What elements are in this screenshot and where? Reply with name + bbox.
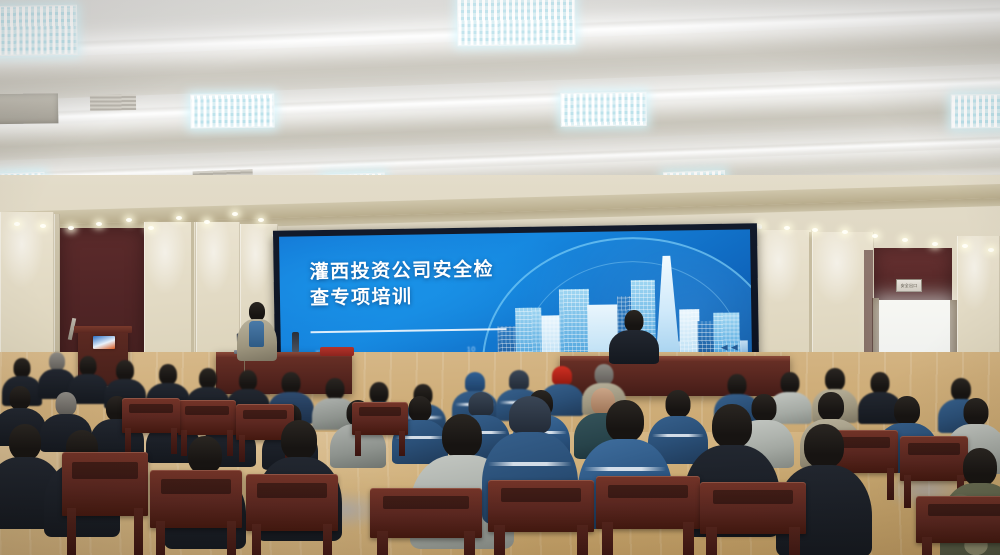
chair-leg [887,468,894,500]
uniform-stripe [584,467,667,471]
downlight-icon [176,216,182,220]
head [188,436,222,474]
head [964,398,989,426]
head [282,372,301,394]
seated-official [608,310,660,362]
standing-presenter [236,302,278,360]
chair-leg [125,428,131,454]
chair-leg [683,522,693,555]
chair-slot [713,490,794,504]
slide-divider [311,328,507,333]
prev-arrow-icon[interactable] [721,345,738,351]
audience-chair[interactable] [62,452,148,555]
chair-back [916,496,1000,543]
downlight-icon [258,218,264,222]
head [14,358,31,378]
air-vent-icon [0,93,58,124]
downlight-icon [96,222,102,226]
table-red-cloth [320,347,354,356]
presenter-shirt [249,321,264,347]
audience-chair[interactable] [150,470,242,555]
downlight-icon [812,228,818,232]
ceiling-light-panel-icon [0,5,78,57]
downlight-icon [204,220,210,224]
chair-leg [134,508,143,555]
accent-light-icon [758,226,762,229]
lectern-emblem [93,336,115,349]
chair-slot [257,483,327,498]
ceiling-light-panel-icon [457,0,576,46]
chair-leg [602,522,612,555]
chair-leg [922,537,932,555]
head [199,368,217,389]
head [509,370,529,390]
ceiling-light-panel-icon [560,92,646,127]
head [56,392,77,416]
downlight-icon [14,222,20,226]
chair-back [370,488,482,538]
downlight-icon [232,212,238,216]
head [442,414,482,458]
audience-chair[interactable] [370,488,482,555]
downlight-icon [932,242,938,246]
downlight-icon [872,234,878,238]
chair-leg [789,527,800,555]
head [9,424,41,460]
chair-leg [904,475,911,508]
chair-slot [129,404,173,413]
chair-back [488,480,594,532]
slide-title: 灌西投资公司安全检 查专项培训 [309,256,555,311]
head [509,396,551,434]
chair-back [62,452,148,516]
ceiling-light-panel-icon [190,93,274,128]
slide-content: 灌西投资公司安全检 查专项培训 汇报人：李 10 [279,229,752,363]
ceiling-light-panel-icon [951,94,1000,129]
audience-chair[interactable] [352,402,408,456]
head [116,360,134,381]
building [559,289,590,359]
chair-back [596,476,700,529]
air-vent-icon [90,94,136,111]
head [963,448,997,486]
head [871,372,890,394]
audience-chair[interactable] [596,476,700,555]
chair-leg [377,531,388,555]
downlight-icon [40,224,46,228]
downlight-icon [962,244,968,248]
downlight-icon [126,218,132,222]
head [281,420,317,460]
downlight-icon [842,230,848,234]
head [894,396,920,425]
chair-leg [323,524,332,555]
audience-chair[interactable] [916,496,1000,555]
chair-leg [67,508,76,555]
chair-leg [494,525,505,555]
chair-leg [577,525,588,555]
downlight-icon [902,238,908,242]
water-bottle [292,332,299,352]
audience-chair[interactable] [488,480,594,555]
chair-slot [383,496,468,509]
head [80,356,97,376]
head [712,404,752,448]
doorway-header-panel [874,248,952,300]
exit-sign-label: 安全出口 [901,283,918,289]
head [818,392,844,421]
downlight-icon [68,226,74,230]
chair-leg [227,521,236,555]
head [804,424,844,468]
chair-slot [72,462,137,479]
chair-leg [399,431,405,456]
chair-slot [928,504,1000,516]
chair-leg [464,531,475,555]
head [326,378,345,400]
chair-back [150,470,242,528]
audience-chair[interactable] [700,482,806,555]
head [595,364,614,385]
official-jacket [609,330,659,364]
head [728,374,747,396]
exit-sign: 安全出口 [896,279,922,292]
table-top-edge [560,356,790,361]
chair-slot [359,407,402,416]
slide-title-line-2: 查专项培训 [310,282,555,311]
chair-slot [243,410,287,419]
audience-chair[interactable] [246,474,338,555]
chair-back [246,474,338,531]
chair-slot [501,488,582,502]
chair-slot [161,479,231,494]
conference-room-photo: 安全出口 [0,0,1000,555]
downlight-icon [784,226,790,230]
chair-leg [355,431,361,456]
head-red-cap [552,366,572,385]
chair-slot [185,406,229,415]
head [159,364,177,385]
slide-title-line-1: 灌西投资公司安全检 [309,256,554,285]
chair-slot [608,485,687,499]
lectern-top [74,326,132,333]
head [606,400,644,442]
downlight-icon [148,226,154,230]
chair-back [700,482,806,534]
official-head [625,310,644,332]
head [10,386,31,410]
chair-leg [156,521,165,555]
chair-leg [706,527,717,555]
chair-leg [252,524,261,555]
downlight-icon [988,248,994,252]
head [239,370,257,391]
uniform-stripe [488,462,573,466]
head [465,372,485,392]
head [781,372,800,394]
head [825,368,845,391]
